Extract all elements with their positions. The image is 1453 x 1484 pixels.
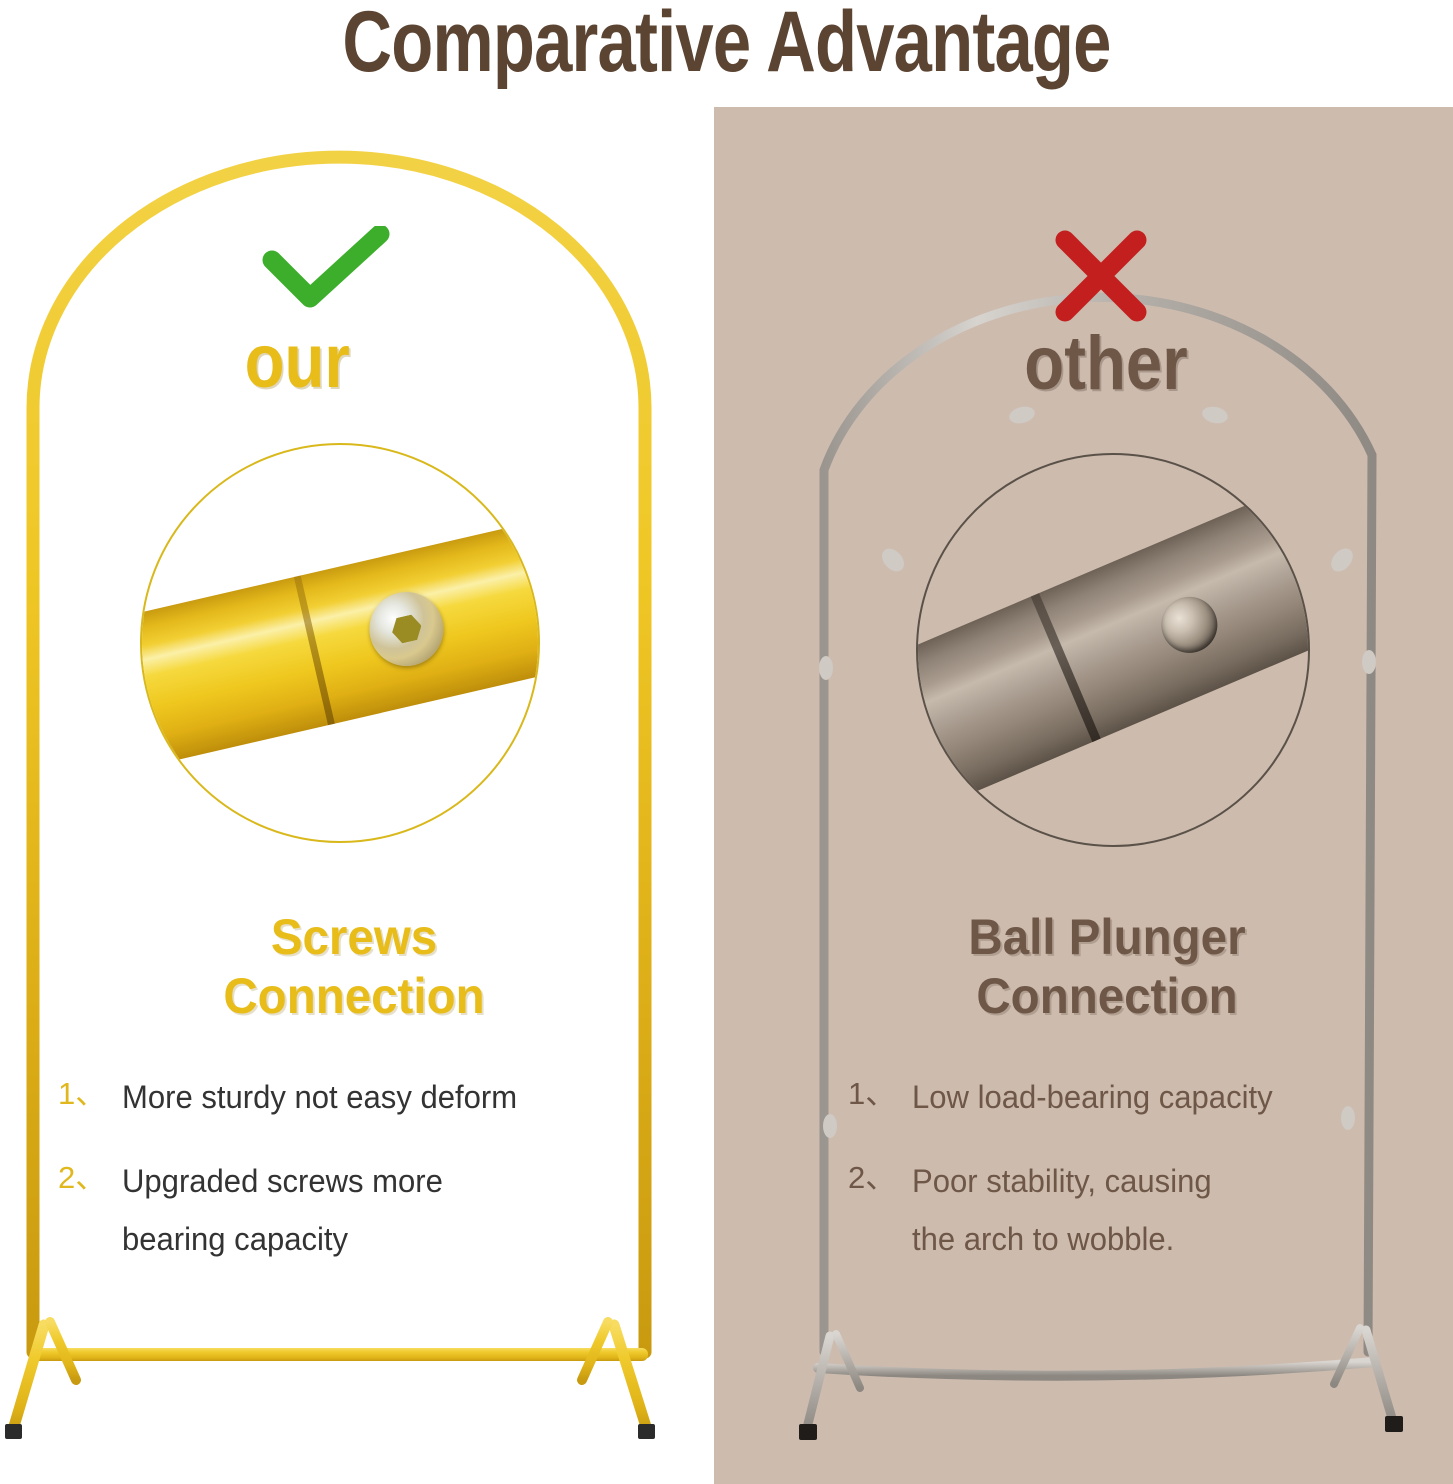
- list-item: 2、 Poor stability, causing the arch to w…: [848, 1152, 1408, 1268]
- detail-circle-screw-joint: [140, 443, 540, 843]
- list-item-number: 1、: [848, 1068, 906, 1113]
- feature-list-our: 1、 More sturdy not easy deform 2、 Upgrad…: [58, 1068, 678, 1294]
- list-item-text: More sturdy not easy deform: [122, 1068, 678, 1126]
- heading-ball-plunger-connection: Ball Plunger Connection: [850, 908, 1365, 1026]
- cross-mark-icon: [1053, 228, 1149, 324]
- feature-list-other: 1、 Low load-bearing capacity 2、 Poor sta…: [848, 1068, 1408, 1294]
- list-item-number: 2、: [58, 1152, 116, 1197]
- list-item: 2、 Upgraded screws more bearing capacity: [58, 1152, 678, 1268]
- detail-circle-ball-plunger: [916, 453, 1310, 847]
- heading-screws-connection: Screws Connection: [65, 908, 643, 1026]
- grey-tube-image: [916, 464, 1310, 820]
- label-other: other: [1024, 320, 1187, 407]
- yellow-tube-image: [140, 510, 540, 775]
- list-item-number: 2、: [848, 1152, 906, 1197]
- tube-seam: [1031, 593, 1101, 742]
- hex-socket-screw-icon: [362, 585, 451, 674]
- list-item-text: Poor stability, causing the arch to wobb…: [912, 1152, 1408, 1268]
- list-item-text: Low load-bearing capacity: [912, 1068, 1408, 1126]
- hex-socket: [389, 613, 424, 645]
- list-item-text: Upgraded screws more bearing capacity: [122, 1152, 678, 1268]
- label-our: our: [245, 318, 350, 405]
- check-mark-icon: [262, 226, 392, 312]
- list-item: 1、 More sturdy not easy deform: [58, 1068, 678, 1126]
- tube-seam: [293, 576, 334, 726]
- comparison-infographic: Comparative Advantage: [0, 0, 1453, 1484]
- list-item: 1、 Low load-bearing capacity: [848, 1068, 1408, 1126]
- ball-plunger-icon: [1153, 589, 1226, 662]
- list-item-number: 1、: [58, 1068, 116, 1113]
